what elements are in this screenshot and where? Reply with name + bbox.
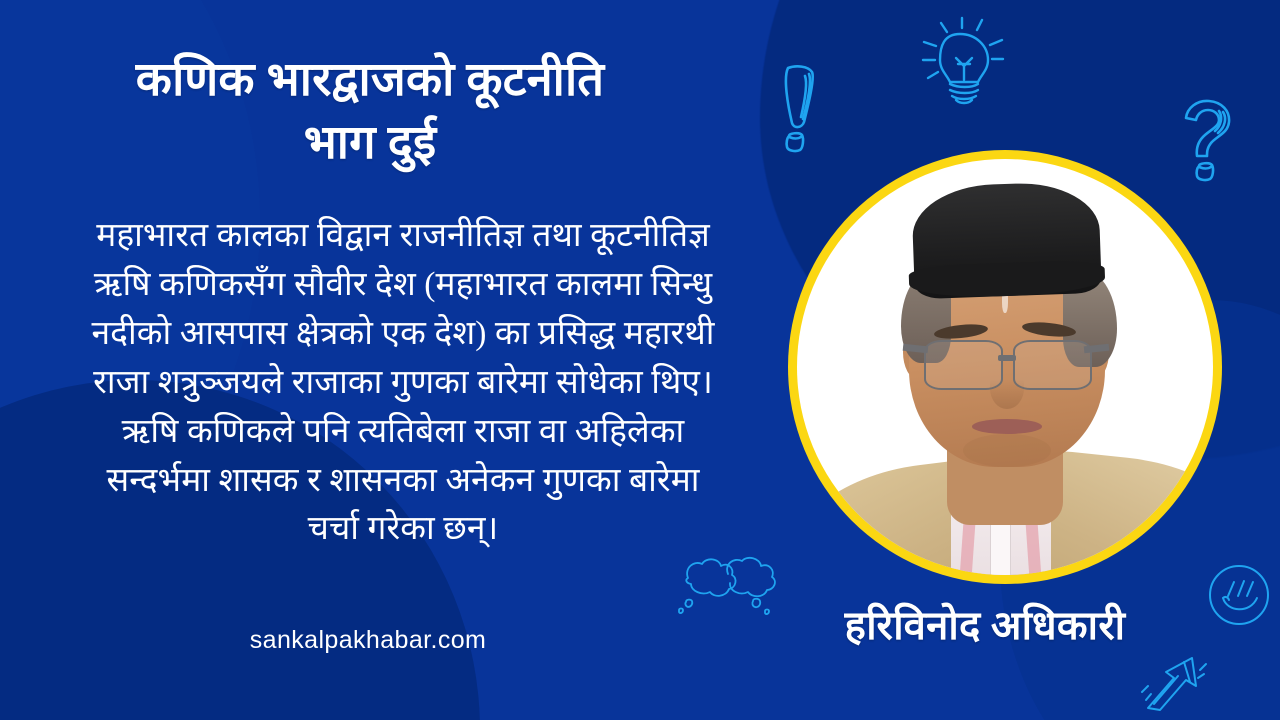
question-mark-icon	[1178, 96, 1238, 182]
portrait-nose	[990, 367, 1023, 409]
poster-body-text: महाभारत कालका विद्वान राजनीतिज्ञ तथा कूट…	[8, 212, 798, 554]
lightbulb-icon	[908, 12, 1014, 108]
smiley-face-icon	[1206, 562, 1272, 628]
body-line-2: ऋषि कणिकसँग सौवीर देश (महाभारत कालमा सिन…	[8, 261, 798, 310]
headline-line-1: कणिक भारद्वाजको कूटनीति	[0, 49, 740, 112]
arrow-icon	[1140, 648, 1212, 716]
portrait-chin	[963, 434, 1050, 467]
body-line-7: चर्चा गरेका छन्।	[8, 505, 798, 554]
author-name: हरिविनोद अधिकारी	[760, 596, 1210, 651]
exclamation-mark-icon	[772, 60, 830, 156]
poster-canvas: कणिक भारद्वाजको कूटनीति भाग दुई महाभारत …	[0, 0, 1280, 720]
body-line-4: राजा शत्रुञ्जयले राजाका गुणका बारेमा सोध…	[8, 359, 798, 408]
body-line-1: महाभारत कालका विद्वान राजनीतिज्ञ तथा कूट…	[8, 212, 798, 261]
author-portrait-ring	[788, 150, 1222, 584]
body-line-5: ऋषि कणिकले पनि त्यतिबेला राजा वा अहिलेका	[8, 408, 798, 457]
body-line-3: नदीको आसपास क्षेत्रको एक देश) का प्रसिद्…	[8, 310, 798, 359]
author-portrait-photo	[797, 159, 1213, 575]
portrait-eyeglass-lens-right	[1013, 340, 1092, 390]
portrait-mouth	[972, 419, 1043, 434]
portrait-eyeglass-bridge	[998, 355, 1017, 362]
website-url: sankalpakhabar.com	[8, 626, 728, 655]
poster-headline: कणिक भारद्वाजको कूटनीति भाग दुई	[0, 49, 740, 174]
headline-line-2: भाग दुई	[0, 112, 740, 175]
body-line-6: सन्दर्भमा शासक र शासनका अनेकन गुणका बारे…	[8, 457, 798, 506]
